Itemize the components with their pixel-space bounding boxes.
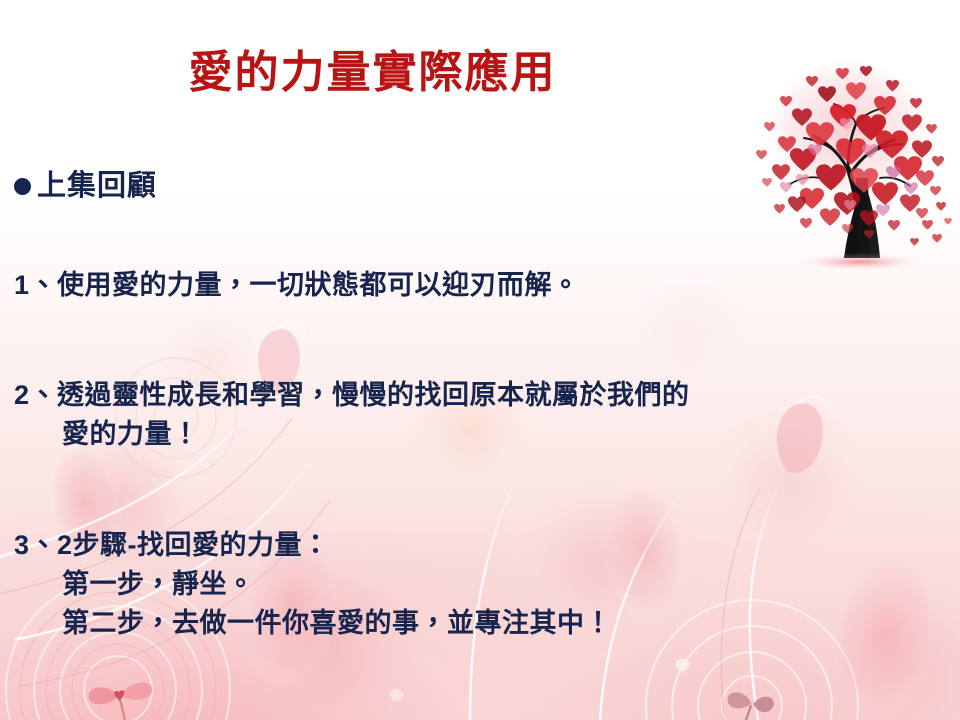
slide-canvas: 愛的力量實際應用 上集回顧 1、使用愛的力量，一切狀態都可以迎刃而解。 2、透過… bbox=[0, 0, 960, 720]
list-item-3-step-2: 第二步，去做一件你喜愛的事，並專注其中！ bbox=[14, 604, 612, 643]
list-item-3-step-1: 第一步，靜坐。 bbox=[14, 565, 612, 604]
list-item-1: 1、使用愛的力量，一切狀態都可以迎刃而解。 bbox=[14, 266, 580, 305]
list-item-1-line-1: 1、使用愛的力量，一切狀態都可以迎刃而解。 bbox=[14, 266, 580, 305]
section-heading: 上集回顧 bbox=[14, 168, 874, 204]
slide-title: 愛的力量實際應用 bbox=[0, 48, 745, 99]
list-item-2-line-1: 2、透過靈性成長和學習，慢慢的找回原本就屬於我們的 bbox=[14, 376, 690, 415]
list-item-3-line-1: 3、2步驟-找回愛的力量： bbox=[14, 526, 612, 565]
section-heading-label: 上集回顧 bbox=[37, 168, 157, 204]
list-item-2: 2、透過靈性成長和學習，慢慢的找回原本就屬於我們的 愛的力量！ bbox=[14, 376, 690, 454]
list-item-3: 3、2步驟-找回愛的力量： 第一步，靜坐。 第二步，去做一件你喜愛的事，並專注其… bbox=[14, 526, 612, 643]
list-item-2-line-2: 愛的力量！ bbox=[14, 415, 690, 454]
filled-circle-bullet-icon bbox=[14, 178, 31, 195]
slide-body: 上集回顧 1、使用愛的力量，一切狀態都可以迎刃而解。 2、透過靈性成長和學習，慢… bbox=[14, 168, 874, 204]
